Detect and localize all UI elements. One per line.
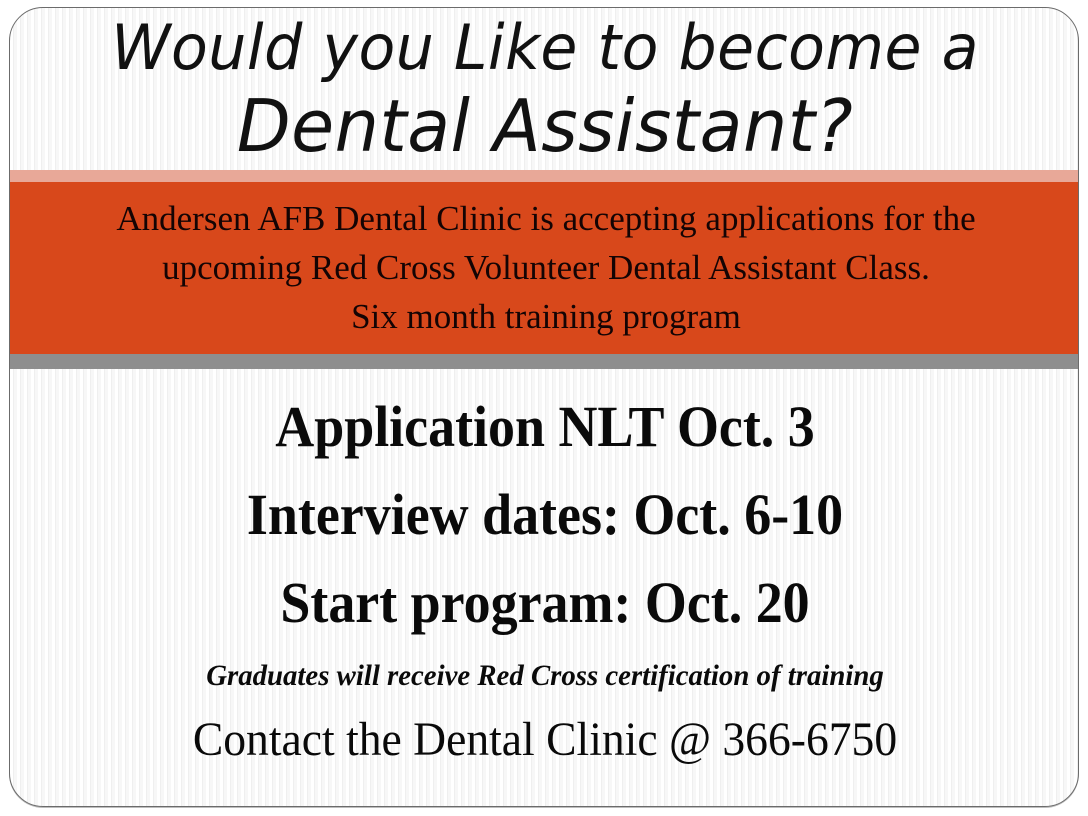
banner-body: Andersen AFB Dental Clinic is accepting … [9,182,1079,354]
title-line-2: Dental Assistant? [26,85,1064,167]
detail-contact-line: Contact the Dental Clinic @ 366-6750 [37,707,1054,773]
poster-title: Would you Like to become a Dental Assist… [10,8,1079,167]
banner-top-accent-strip [9,170,1079,182]
poster-details: Application NLT Oct. 3 Interview dates: … [10,383,1079,773]
slide-canvas: Would you Like to become a Dental Assist… [0,0,1088,816]
announcement-banner: Andersen AFB Dental Clinic is accepting … [9,170,1079,369]
banner-line-1: Andersen AFB Dental Clinic is accepting … [26,194,1066,243]
title-line-1: Would you Like to become a [26,11,1064,85]
detail-certification-note: Graduates will receive Red Cross certifi… [31,649,1058,703]
banner-bottom-accent-strip [9,354,1079,369]
banner-line-3: Six month training program [26,292,1066,341]
poster-card: Would you Like to become a Dental Assist… [9,7,1079,807]
detail-application-deadline: Application NLT Oct. 3 [47,383,1042,471]
banner-line-2: upcoming Red Cross Volunteer Dental Assi… [26,243,1066,292]
detail-start-program: Start program: Oct. 20 [47,559,1042,647]
detail-interview-dates: Interview dates: Oct. 6-10 [47,471,1042,559]
